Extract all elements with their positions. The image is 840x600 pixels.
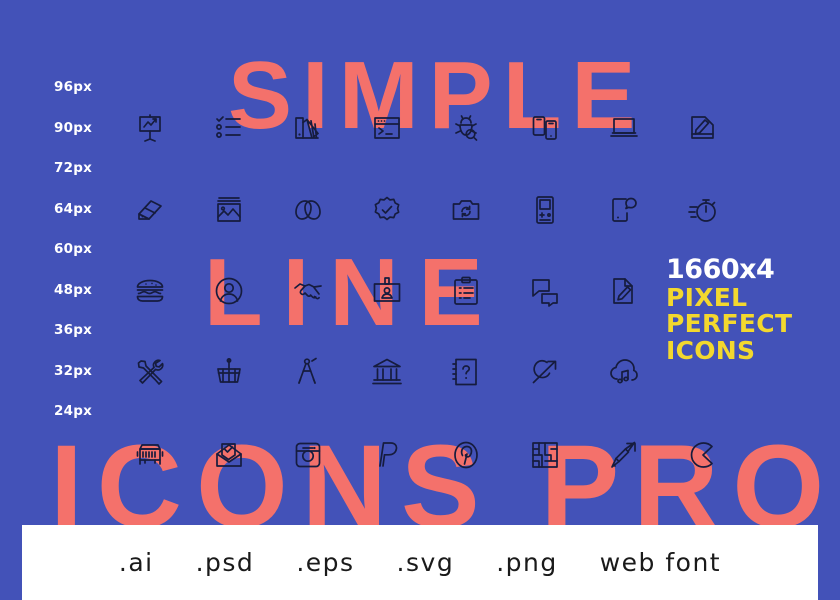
eraser-icon[interactable] <box>110 187 189 233</box>
rocket-arrow-icon[interactable] <box>584 432 663 478</box>
promo-tag-icons: ICONS <box>666 338 792 365</box>
basket-icon[interactable] <box>189 349 268 395</box>
presentation-chart-icon[interactable] <box>110 105 189 151</box>
promo-tag-perfect: PERFECT <box>666 311 792 338</box>
pacman-icon[interactable] <box>663 432 742 478</box>
open-envelope-check-icon[interactable] <box>189 432 268 478</box>
icon-showcase-grid <box>110 0 750 600</box>
size-label-36px: 36px <box>54 322 92 338</box>
size-label-60px: 60px <box>54 241 92 257</box>
clipboard-checklist-icon[interactable] <box>426 268 505 314</box>
paypal-icon[interactable] <box>347 432 426 478</box>
id-badge-icon[interactable] <box>347 268 426 314</box>
maze-icon[interactable] <box>505 432 584 478</box>
phone-chat-icon[interactable] <box>584 187 663 233</box>
terminal-window-icon[interactable] <box>347 105 426 151</box>
icon-row-1 <box>110 105 750 151</box>
laptop-icon[interactable] <box>584 105 663 151</box>
growth-arrow-icon[interactable] <box>505 349 584 395</box>
bank-icon[interactable] <box>347 349 426 395</box>
stopwatch-icon[interactable] <box>663 187 742 233</box>
size-ruler: 96px 90px 72px 64px 60px 48px 36px 32px … <box>0 0 110 600</box>
tablet-stylus-icon[interactable] <box>663 105 742 151</box>
size-label-96px: 96px <box>54 79 92 95</box>
size-label-64px: 64px <box>54 201 92 217</box>
promo-icon-count: 1660x4 <box>666 256 792 285</box>
format-psd: .psd <box>196 548 255 577</box>
size-label-72px: 72px <box>54 160 92 176</box>
user-circle-icon[interactable] <box>189 268 268 314</box>
checklist-icon[interactable] <box>189 105 268 151</box>
size-label-24px: 24px <box>54 403 92 419</box>
format-eps: .eps <box>296 548 354 577</box>
format-png: .png <box>496 548 558 577</box>
jeep-icon[interactable] <box>110 432 189 478</box>
promo-block: 1660x4 PIXEL PERFECT ICONS <box>666 256 792 364</box>
handshake-icon[interactable] <box>268 268 347 314</box>
promo-tag-pixel: PIXEL <box>666 285 792 312</box>
size-label-32px: 32px <box>54 363 92 379</box>
camera-sync-icon[interactable] <box>426 187 505 233</box>
tools-icon[interactable] <box>110 349 189 395</box>
format-ai: .ai <box>119 548 154 577</box>
document-edit-icon[interactable] <box>584 268 663 314</box>
pinterest-icon[interactable] <box>426 432 505 478</box>
icon-row-2 <box>110 187 750 233</box>
bug-search-icon[interactable] <box>426 105 505 151</box>
verified-badge-icon[interactable] <box>347 187 426 233</box>
file-formats-bar: .ai .psd .eps .svg .png web font <box>22 525 818 600</box>
mobile-devices-icon[interactable] <box>505 105 584 151</box>
format-svg: .svg <box>397 548 455 577</box>
size-label-48px: 48px <box>54 282 92 298</box>
color-swatch-icon[interactable] <box>268 105 347 151</box>
burger-icon[interactable] <box>110 268 189 314</box>
chat-bubbles-icon[interactable] <box>505 268 584 314</box>
format-web-font: web font <box>600 548 721 577</box>
handheld-console-icon[interactable] <box>505 187 584 233</box>
instagram-camera-icon[interactable] <box>268 432 347 478</box>
poster-canvas: SIMPLE LINE ICONS PRO 96px 90px 72px 64p… <box>0 0 840 600</box>
icon-row-4 <box>110 349 750 395</box>
pretzel-icon[interactable] <box>268 187 347 233</box>
icon-row-5 <box>110 432 750 478</box>
icon-row-3 <box>110 268 750 314</box>
size-label-90px: 90px <box>54 120 92 136</box>
cloud-music-icon[interactable] <box>584 349 663 395</box>
photo-frame-icon[interactable] <box>189 187 268 233</box>
compass-divider-icon[interactable] <box>268 349 347 395</box>
faq-notebook-icon[interactable] <box>426 349 505 395</box>
